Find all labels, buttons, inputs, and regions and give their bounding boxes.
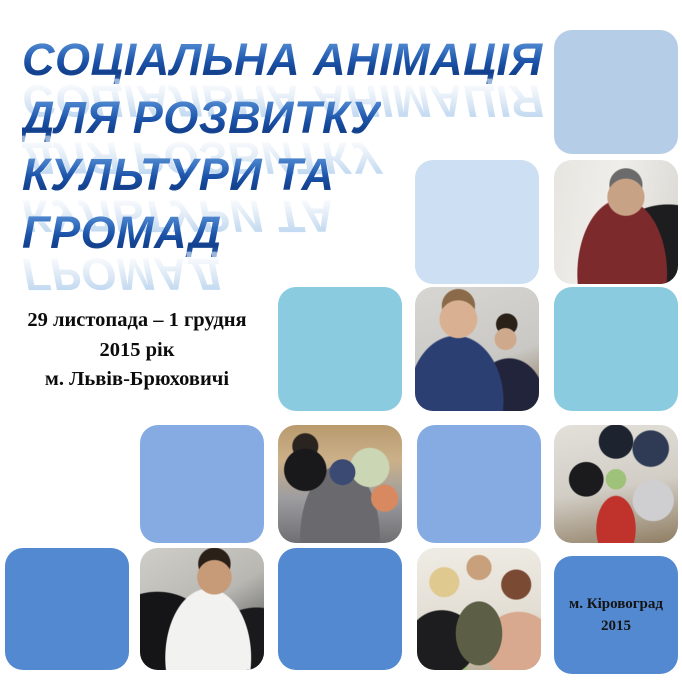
footer-city-year: 2015 — [601, 615, 631, 638]
photo-image — [140, 548, 264, 670]
photo-image — [417, 548, 541, 670]
title-line-3: КУЛЬТУРИ ТА КУЛЬТУРИ ТА — [22, 153, 552, 197]
title-line-1-text: СОЦІАЛЬНА АНІМАЦІЯ — [22, 34, 543, 85]
footer-city-tile: м. Кіровоград 2015 — [554, 556, 678, 674]
photo-tile-group-of-women-with-certificate — [554, 425, 678, 543]
photo-tile-smiling-man-in-maroon-sweater — [554, 160, 678, 284]
title-line-2: ДЛЯ РОЗВИТКУ ДЛЯ РОЗВИТКУ — [22, 96, 552, 140]
color-swatch-tile — [278, 287, 402, 411]
photo-image — [278, 425, 402, 543]
title-line-2-text: ДЛЯ РОЗВИТКУ — [22, 92, 381, 143]
slide-canvas: СОЦІАЛЬНА АНІМАЦІЯ СОЦІАЛЬНА АНІМАЦІЯ ДЛ… — [0, 0, 682, 682]
photo-tile-group-workshop-activity-circle — [278, 425, 402, 543]
color-swatch-tile — [278, 548, 402, 670]
color-swatch-tile — [5, 548, 129, 670]
photo-image — [554, 160, 678, 284]
title-line-4-text: ГРОМАД — [22, 207, 222, 258]
photo-image — [554, 425, 678, 543]
color-swatch-tile — [554, 30, 678, 154]
title-line-3-text: КУЛЬТУРИ ТА — [22, 149, 334, 200]
title-line-4: ГРОМАД ГРОМАД — [22, 211, 552, 255]
slide-title: СОЦІАЛЬНА АНІМАЦІЯ СОЦІАЛЬНА АНІМАЦІЯ ДЛ… — [22, 38, 552, 255]
photo-image — [415, 287, 539, 411]
footer-city-name: м. Кіровоград — [569, 593, 663, 616]
photo-tile-three-people-holding-certificates — [417, 548, 541, 670]
event-info-block: 29 листопада – 1 грудня 2015 рік м. Льві… — [0, 306, 274, 395]
photo-tile-man-with-glasses-thinking-and-woman — [415, 287, 539, 411]
photo-tile-young-man-in-white-tshirt — [140, 548, 264, 670]
event-location: м. Львів-Брюховичі — [0, 365, 274, 395]
title-line-1: СОЦІАЛЬНА АНІМАЦІЯ СОЦІАЛЬНА АНІМАЦІЯ — [22, 38, 552, 82]
color-swatch-tile — [554, 287, 678, 411]
color-swatch-tile — [417, 425, 541, 543]
color-swatch-tile — [140, 425, 264, 543]
event-year: 2015 рік — [0, 336, 274, 366]
event-dates: 29 листопада – 1 грудня — [0, 306, 274, 336]
